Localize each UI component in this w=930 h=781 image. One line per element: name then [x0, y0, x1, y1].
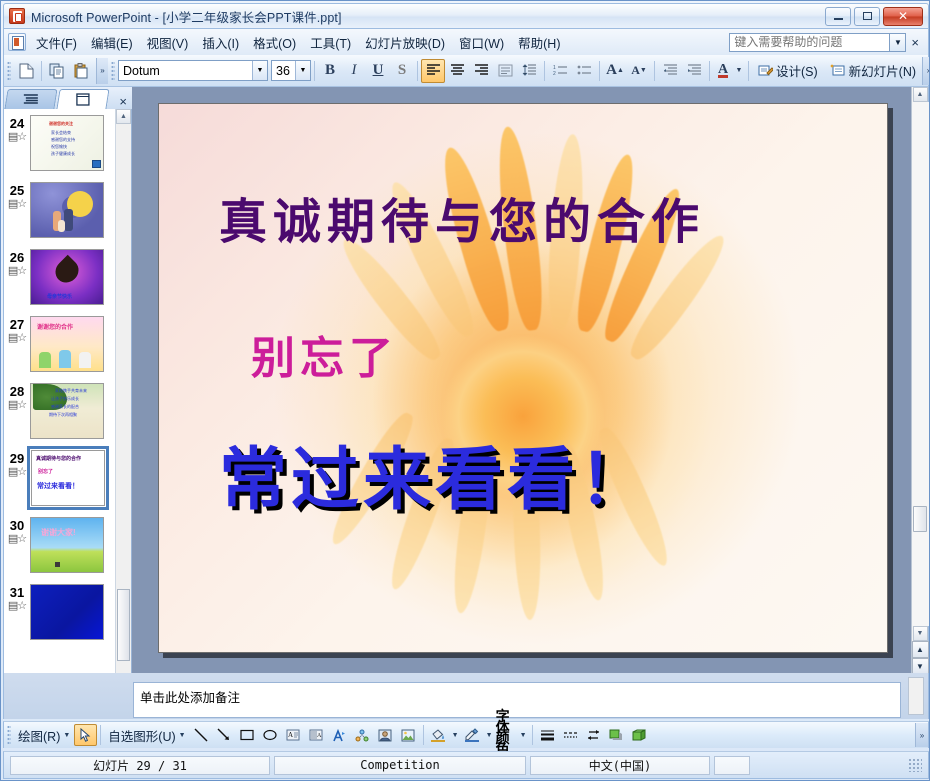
thumbnail-scroll-up-arrow-icon[interactable]: ▲ [116, 109, 131, 124]
increase-font-size-button[interactable]: A▲ [603, 59, 627, 83]
arrow-icon[interactable] [213, 724, 236, 746]
thumb-meta-27: 27 ▤☆ [4, 316, 30, 345]
thumb-image-25[interactable] [30, 182, 104, 238]
thumb-25-canvas [31, 183, 103, 237]
select-objects-arrow-icon[interactable] [74, 724, 97, 746]
arrow-style-icon[interactable] [582, 724, 605, 746]
clip-art-icon[interactable] [374, 724, 397, 746]
previous-slide-button[interactable]: ▲ [912, 641, 929, 658]
window-resize-grip[interactable] [908, 758, 922, 772]
increase-font-size-label: A [606, 62, 617, 79]
drawing-separator-3 [532, 725, 533, 745]
slide-subtitle-text[interactable]: 别忘了 [251, 322, 398, 386]
slide-number-25: 25 [4, 184, 30, 198]
slide-number-30: 30 [4, 519, 30, 533]
new-slide-button[interactable]: 新幻灯片(N) [824, 58, 922, 83]
svg-text:A: A [288, 731, 293, 739]
font-name-chevron-down-icon[interactable]: ▼ [252, 61, 267, 80]
slide-number-27: 27 [4, 318, 30, 332]
text-box-icon[interactable]: A [282, 724, 305, 746]
drawing-separator-1 [100, 725, 101, 745]
window-title: Microsoft PowerPoint - [小学二年级家长会PPT课件.pp… [31, 7, 342, 26]
status-extra-cell [714, 756, 750, 775]
italic-button[interactable]: I [342, 59, 366, 83]
vertical-text-box-icon[interactable]: A [305, 724, 328, 746]
fill-color-icon[interactable] [427, 724, 450, 746]
text-shadow-button[interactable]: S [390, 59, 414, 83]
slide-transition-star-icon-25: ▤☆ [4, 198, 30, 211]
bold-button[interactable]: B [318, 59, 342, 83]
thumb-meta-28: 28 ▤☆ [4, 383, 30, 412]
dash-style-icon[interactable] [559, 724, 582, 746]
toolbar-separator-8 [748, 61, 749, 81]
thumb-image-31[interactable] [30, 584, 104, 640]
toolbar-grip-formatting[interactable] [111, 61, 115, 81]
status-language[interactable]: 中文(中国) [530, 756, 710, 775]
slide-thumbnail-28[interactable]: 28 ▤☆ 家校携手共育未来 让孩子快乐成长 感谢家长的配合 期待下次再相聚 [4, 383, 116, 440]
menu-bar: 文件(F) 编辑(E) 视图(V) 插入(I) 格式(O) 工具(T) 幻灯片放… [3, 29, 929, 55]
slide-scroll-down-arrow-icon[interactable]: ▼ [913, 626, 928, 641]
font-name-combobox[interactable]: Dotum ▼ [118, 60, 268, 81]
autoshapes-menu-button[interactable]: 自选图形(U) ▼ [104, 724, 189, 747]
slide-title-text[interactable]: 真诚期待与您的合作 [219, 182, 859, 252]
thumb-26-label: 母亲节快乐 [47, 293, 103, 300]
design-button[interactable]: 设计(S) [752, 58, 824, 83]
line-icon[interactable] [190, 724, 213, 746]
thumbnail-pane-scrollbar[interactable]: ▲ ▼ [115, 109, 131, 697]
standard-toolbar-overflow-button[interactable]: » [96, 58, 108, 84]
svg-text:2: 2 [553, 71, 556, 77]
toolbar-separator-7 [709, 61, 710, 81]
justify-button[interactable] [493, 59, 517, 83]
slide-thumbnail-26[interactable]: 26 ▤☆ 母亲节快乐 [4, 249, 116, 306]
slide-thumbnail-25[interactable]: 25 ▤☆ [4, 182, 116, 239]
drawing-font-color-icon[interactable]: 字体颜色 [495, 724, 518, 746]
slide-transition-star-icon-28: ▤☆ [4, 399, 30, 412]
draw-menu-chevron-down-icon: ▼ [63, 732, 70, 739]
drawing-separator-2 [423, 725, 424, 745]
underline-button[interactable]: U [366, 59, 390, 83]
work-area: × 24 ▤☆ 谢谢您的关注 家长会结束 感谢您的支持 祝您愉快 [3, 87, 929, 719]
maximize-restore-button[interactable] [854, 7, 880, 26]
status-design-template[interactable]: Competition [274, 756, 526, 775]
font-name-value: Dotum [123, 64, 160, 78]
toolbar-separator-3 [417, 61, 418, 81]
slide-scrollbar-thumb[interactable] [913, 506, 927, 532]
line-color-icon[interactable] [461, 724, 484, 746]
decrease-font-size-label: A [631, 63, 640, 78]
status-bar: 幻灯片 29 / 31 Competition 中文(中国) [3, 751, 929, 779]
slide-canvas-area[interactable]: 真诚期待与您的合作 别忘了 常过来看看！ [133, 87, 913, 675]
thumb-meta-30: 30 ▤☆ [4, 517, 30, 546]
svg-text:A: A [317, 733, 322, 739]
thumb-29-canvas: 真诚期待与您的合作 别忘了 常过来看看！ [32, 451, 104, 505]
slide-thumbnail-pane[interactable]: 24 ▤☆ 谢谢您的关注 家长会结束 感谢您的支持 祝您愉快 孩子健康成长 [4, 109, 132, 697]
thumb-29-line2: 别忘了 [38, 468, 53, 475]
decrease-font-size-button[interactable]: A▼ [627, 59, 651, 83]
drawing-toolbar-overflow-button[interactable]: » [915, 723, 928, 747]
slide-thumbnail-30[interactable]: 30 ▤☆ 谢谢大家! [4, 517, 116, 574]
slide-thumbnail-24[interactable]: 24 ▤☆ 谢谢您的关注 家长会结束 感谢您的支持 祝您愉快 孩子健康成长 [4, 115, 116, 172]
draw-menu-label: 绘图(R) [18, 726, 60, 745]
status-slide-counter: 幻灯片 29 / 31 [10, 756, 270, 775]
menu-item-tools[interactable]: 工具(T) [303, 30, 358, 55]
align-right-button[interactable] [469, 59, 493, 83]
slide-thumbnail-list: 24 ▤☆ 谢谢您的关注 家长会结束 感谢您的支持 祝您愉快 孩子健康成长 [4, 109, 116, 651]
thumb-31-canvas [31, 585, 103, 639]
numbering-button[interactable]: 12 [548, 59, 572, 83]
slide-transition-star-icon-26: ▤☆ [4, 265, 30, 278]
toolbar-separator-5 [599, 61, 600, 81]
thumb-image-27[interactable]: 谢谢您的合作 [30, 316, 104, 372]
thumb-meta-29: 29 ▤☆ [4, 450, 30, 479]
oval-icon[interactable] [259, 724, 282, 746]
3d-style-icon[interactable] [628, 724, 651, 746]
slide-scroll-up-arrow-icon[interactable]: ▲ [913, 87, 928, 102]
slide-text-layer: 真诚期待与您的合作 别忘了 常过来看看！ [159, 104, 887, 652]
thumb-image-26[interactable]: 母亲节快乐 [30, 249, 104, 305]
menu-item-format[interactable]: 格式(O) [246, 30, 303, 55]
toolbar-separator-4 [544, 61, 545, 81]
fill-color-chevron-down-icon[interactable]: ▼ [450, 724, 461, 746]
diagram-icon[interactable] [351, 724, 374, 746]
rectangle-icon[interactable] [236, 724, 259, 746]
slide-transition-star-icon-29: ▤☆ [4, 466, 30, 479]
toolbar-separator-1 [41, 61, 42, 81]
bullets-button[interactable] [572, 59, 596, 83]
slide-transition-star-icon-30: ▤☆ [4, 533, 30, 546]
powerpoint-window: Microsoft PowerPoint - [小学二年级家长会PPT课件.pp… [0, 0, 930, 781]
menu-item-window[interactable]: 窗口(W) [452, 30, 511, 55]
slide-emphasis-text[interactable]: 常过来看看！ [219, 424, 651, 523]
font-color-chevron-down-icon[interactable]: ▼ [733, 59, 745, 83]
slide-number-26: 26 [4, 251, 30, 265]
formatting-toolbar: » Dotum ▼ 36 ▼ B I U S [3, 55, 929, 87]
slide-thumbnail-27[interactable]: 27 ▤☆ 谢谢您的合作 [4, 316, 116, 373]
line-style-icon[interactable] [536, 724, 559, 746]
thumb-meta-25: 25 ▤☆ [4, 182, 30, 211]
thumb-meta-24: 24 ▤☆ [4, 115, 30, 144]
paste-icon[interactable] [69, 59, 93, 83]
help-search-box: ▼ × [729, 33, 924, 52]
decrease-indent-button[interactable] [658, 59, 682, 83]
slide-transition-star-icon-24: ▤☆ [4, 131, 30, 144]
autoshapes-menu-label: 自选图形(U) [108, 726, 175, 745]
window-controls: ✕ [825, 7, 923, 26]
slide-thumbnail-29[interactable]: 29 ▤☆ 真诚期待与您的合作 别忘了 常过来看看！ [4, 450, 116, 507]
outline-slides-tabs: × [4, 87, 132, 109]
menu-item-insert[interactable]: 插入(I) [195, 30, 246, 55]
thumb-image-24[interactable]: 谢谢您的关注 家长会结束 感谢您的支持 祝您愉快 孩子健康成长 [30, 115, 104, 171]
tab-slides[interactable] [56, 89, 109, 109]
formatting-toolbar-overflow-button[interactable]: » [922, 57, 930, 85]
menu-item-help[interactable]: 帮助(H) [511, 30, 567, 55]
drawing-font-color-chevron-down-icon[interactable]: ▼ [518, 724, 529, 746]
notes-vertical-scrollbar[interactable] [908, 677, 924, 715]
current-slide[interactable]: 真诚期待与您的合作 别忘了 常过来看看！ [158, 103, 888, 653]
new-slide-button-label: 新幻灯片(N) [849, 61, 916, 80]
insert-picture-icon[interactable] [397, 724, 420, 746]
thumb-29-line1: 真诚期待与您的合作 [36, 455, 81, 462]
line-spacing-button[interactable] [517, 59, 541, 83]
slide-number-28: 28 [4, 385, 30, 399]
shadow-style-icon[interactable] [605, 724, 628, 746]
thumb-29-line3: 常过来看看！ [37, 481, 79, 491]
drawing-toolbar: 绘图(R) ▼ 自选图形(U) ▼ A A [3, 721, 929, 748]
thumb-meta-31: 31 ▤☆ [4, 584, 30, 613]
thumb-30-label: 谢谢大家! [41, 527, 76, 538]
slide-transition-star-icon-27: ▤☆ [4, 332, 30, 345]
toolbar-separator-6 [654, 61, 655, 81]
title-bar: Microsoft PowerPoint - [小学二年级家长会PPT课件.pp… [3, 3, 929, 29]
menu-item-slideshow[interactable]: 幻灯片放映(D) [358, 30, 452, 55]
help-close-icon[interactable]: × [906, 35, 924, 50]
help-dropdown-chevron-down-icon[interactable]: ▼ [889, 33, 906, 52]
thumb-image-30[interactable]: 谢谢大家! [30, 517, 104, 573]
toolbar-separator-2 [314, 61, 315, 81]
slide-number-24: 24 [4, 117, 30, 131]
powerpoint-app-icon [9, 8, 25, 24]
thumb-24-canvas: 谢谢您的关注 家长会结束 感谢您的支持 祝您愉快 孩子健康成长 [31, 116, 103, 170]
font-size-value: 36 [276, 64, 290, 78]
font-size-combobox[interactable]: 36 ▼ [271, 60, 311, 81]
notes-pane-container: 单击此处添加备注 [3, 673, 929, 719]
increase-indent-button[interactable] [682, 59, 706, 83]
word-art-icon[interactable] [328, 724, 351, 746]
document-icon [8, 33, 26, 51]
menu-item-file[interactable]: 文件(F) [29, 30, 84, 55]
slide-number-31: 31 [4, 586, 30, 600]
thumb-27-label: 谢谢您的合作 [37, 322, 73, 331]
slide-transition-star-icon-31: ▤☆ [4, 600, 30, 613]
copy-icon[interactable] [45, 59, 69, 83]
design-button-label: 设计(S) [776, 61, 818, 80]
thumb-27-canvas: 谢谢您的合作 [31, 317, 103, 371]
font-color-button[interactable]: A [713, 59, 733, 83]
slide-thumbnail-31[interactable]: 31 ▤☆ [4, 584, 116, 641]
toolbar-grip-standard[interactable] [7, 61, 11, 81]
close-button[interactable]: ✕ [883, 7, 923, 26]
align-center-button[interactable] [445, 59, 469, 83]
thumbnail-scrollbar-thumb[interactable] [117, 589, 130, 661]
slide-scrollbar-track[interactable] [912, 102, 929, 626]
help-search-input[interactable] [729, 33, 889, 52]
new-file-icon[interactable] [14, 59, 38, 83]
close-pane-icon[interactable]: × [119, 94, 127, 109]
menu-item-view[interactable]: 视图(V) [140, 30, 196, 55]
autoshapes-chevron-down-icon: ▼ [179, 732, 186, 739]
notes-placeholder[interactable]: 单击此处添加备注 [133, 682, 901, 718]
thumb-28-canvas: 家校携手共育未来 让孩子快乐成长 感谢家长的配合 期待下次再相聚 [31, 384, 103, 438]
menu-item-edit[interactable]: 编辑(E) [84, 30, 140, 55]
drawing-toolbar-grip[interactable] [7, 725, 11, 745]
thumb-image-28[interactable]: 家校携手共育未来 让孩子快乐成长 感谢家长的配合 期待下次再相聚 [30, 383, 104, 439]
font-size-chevron-down-icon[interactable]: ▼ [295, 61, 310, 80]
thumb-30-canvas: 谢谢大家! [31, 518, 103, 572]
thumb-26-canvas: 母亲节快乐 [31, 250, 103, 304]
align-left-button[interactable] [421, 59, 445, 83]
line-color-chevron-down-icon[interactable]: ▼ [484, 724, 495, 746]
tab-outline[interactable] [4, 89, 57, 109]
minimize-button[interactable] [825, 7, 851, 26]
draw-menu-button[interactable]: 绘图(R) ▼ [14, 724, 74, 747]
thumb-image-29[interactable]: 真诚期待与您的合作 别忘了 常过来看看！ [31, 450, 105, 506]
thumb-meta-26: 26 ▤☆ [4, 249, 30, 278]
slide-number-29: 29 [4, 452, 30, 466]
slide-vertical-scrollbar[interactable]: ▲ ▼ ▲ ▼ [911, 87, 928, 675]
font-color-label: A [718, 64, 728, 78]
